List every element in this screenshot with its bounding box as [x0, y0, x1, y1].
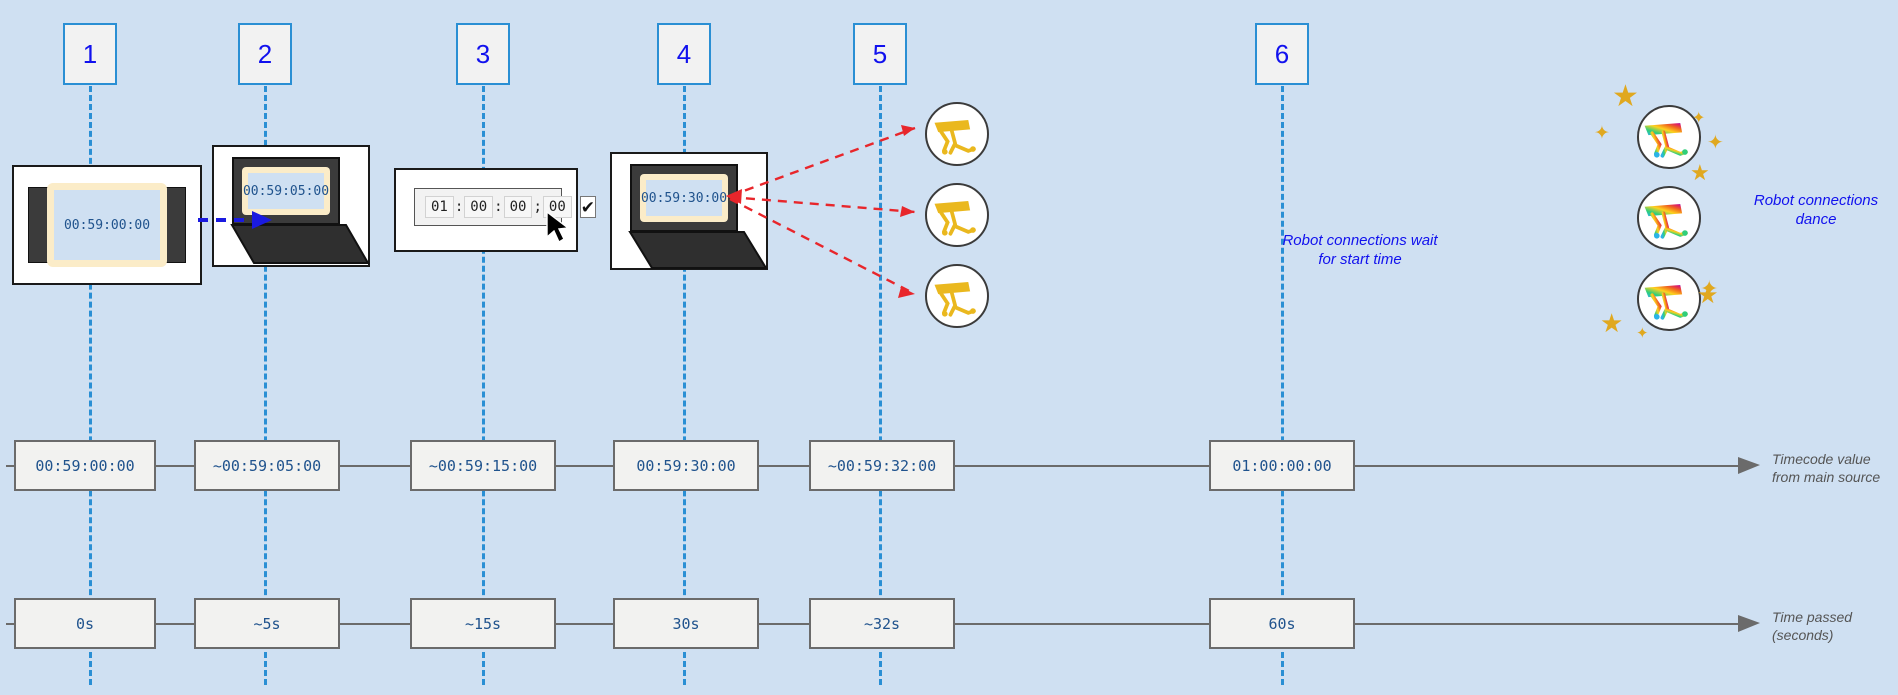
seconds-box-value: 60s — [1268, 615, 1295, 633]
diagram-canvas: 1 2 3 4 5 6 00:59:00:00 00: — [0, 0, 1898, 695]
star-icon: ★ — [1697, 284, 1719, 308]
robot-idle-1 — [925, 102, 989, 166]
note-dancing-line-2: dance — [1738, 211, 1894, 230]
seconds-box-1: 0s — [14, 598, 156, 649]
laptop-step4-lid: 00:59:30:00 — [630, 164, 738, 232]
step-number-label: 4 — [677, 39, 691, 70]
timecode-box-4: 00:59:30:00 — [613, 440, 759, 491]
seconds-box-6: 60s — [1209, 598, 1355, 649]
sparkle-icon: ✦ — [1594, 124, 1610, 143]
laptop-step4-timecode-value: 00:59:30:00 — [641, 191, 727, 206]
laptop-step2-timecode-value: 00:59:05:00 — [243, 184, 329, 199]
monitor-bezel: 00:59:00:00 — [47, 183, 167, 267]
laptop-step2-base — [226, 223, 370, 267]
timecode-axis-label: Timecode value from main source — [1772, 450, 1892, 486]
note-dancing-line-1: Robot connections — [1738, 192, 1894, 211]
robot-dancing-2 — [1637, 186, 1701, 250]
robot-dog-dancing-icon — [1639, 188, 1699, 248]
monitor-timecode-value: 00:59:00:00 — [64, 218, 150, 233]
timecode-hours-field[interactable]: 01 — [425, 196, 454, 218]
seconds-box-5: ~32s — [809, 598, 955, 649]
timecode-separator-1: : — [454, 199, 464, 215]
note-robots-waiting: Robot connections wait for start time — [1235, 232, 1485, 270]
timecode-box-5: ~00:59:32:00 — [809, 440, 955, 491]
checkmark-icon[interactable]: ✔ — [580, 196, 596, 218]
step-tag-3[interactable]: 3 — [456, 23, 510, 85]
seconds-axis-arrowhead — [1738, 613, 1764, 635]
lifeline-6 — [1281, 86, 1284, 685]
robot-dog-icon — [927, 185, 987, 245]
robot-dog-icon — [927, 104, 987, 164]
timecode-box-value: ~00:59:32:00 — [828, 457, 936, 475]
step-tag-1[interactable]: 1 — [63, 23, 117, 85]
sparkle-icon: ✦ — [1636, 326, 1649, 341]
timecode-axis-label-line-2: from main source — [1772, 468, 1892, 486]
seconds-box-2: ~5s — [194, 598, 340, 649]
timecode-box-value: 00:59:00:00 — [35, 457, 134, 475]
note-robots-dancing: Robot connections dance — [1738, 192, 1894, 230]
timecode-axis-arrowhead — [1738, 455, 1764, 477]
laptop-step4-base — [624, 230, 768, 272]
monitor-panel[interactable]: 00:59:00:00 — [12, 165, 202, 285]
robot-idle-3 — [925, 264, 989, 328]
timecode-box-value: ~00:59:15:00 — [429, 457, 537, 475]
step-tag-4[interactable]: 4 — [657, 23, 711, 85]
laptop-step2-screen: 00:59:05:00 — [248, 173, 324, 209]
timecode-separator-2: : — [493, 199, 503, 215]
laptop-step2-panel[interactable]: 00:59:05:00 — [212, 145, 370, 267]
seconds-box-4: 30s — [613, 598, 759, 649]
timecode-box-value: 00:59:30:00 — [636, 457, 735, 475]
seconds-box-value: ~5s — [253, 615, 280, 633]
timecode-seconds-field[interactable]: 00 — [504, 196, 533, 218]
robot-dog-dancing-icon — [1639, 107, 1699, 167]
timecode-box-3: ~00:59:15:00 — [410, 440, 556, 491]
robot-dog-icon — [927, 266, 987, 326]
note-waiting-line-1: Robot connections wait — [1235, 232, 1485, 251]
seconds-box-value: 0s — [76, 615, 94, 633]
timecode-box-6: 01:00:00:00 — [1209, 440, 1355, 491]
robot-dog-dancing-icon — [1639, 269, 1699, 329]
step-tag-2[interactable]: 2 — [238, 23, 292, 85]
laptop-step4-panel[interactable]: 00:59:30:00 — [610, 152, 768, 270]
laptop-step2-lid: 00:59:05:00 — [232, 157, 340, 225]
robot-idle-2 — [925, 183, 989, 247]
step-number-label: 3 — [476, 39, 490, 70]
step-number-label: 1 — [83, 39, 97, 70]
step-number-label: 6 — [1275, 39, 1289, 70]
laptop-step4-bezel: 00:59:30:00 — [640, 174, 728, 222]
step-number-label: 2 — [258, 39, 272, 70]
timecode-entry-widget[interactable]: 01 : 00 : 00 ; 00 ✔ — [414, 188, 562, 226]
timecode-box-1: 00:59:00:00 — [14, 440, 156, 491]
seconds-box-3: ~15s — [410, 598, 556, 649]
step-tag-5[interactable]: 5 — [853, 23, 907, 85]
timecode-box-2: ~00:59:05:00 — [194, 440, 340, 491]
seconds-box-value: ~32s — [864, 615, 900, 633]
timecode-separator-3: ; — [532, 199, 542, 215]
step-tag-6[interactable]: 6 — [1255, 23, 1309, 85]
seconds-axis-label-line-1: Time passed — [1772, 608, 1892, 626]
timecode-minutes-field[interactable]: 00 — [464, 196, 493, 218]
seconds-axis-label-line-2: (seconds) — [1772, 626, 1892, 644]
sparkle-icon: ✦ — [1692, 111, 1705, 127]
laptop-step4-screen: 00:59:30:00 — [646, 180, 722, 216]
monitor-body: 00:59:00:00 — [28, 187, 186, 263]
timecode-box-value: ~00:59:05:00 — [213, 457, 321, 475]
note-waiting-line-2: for start time — [1235, 251, 1485, 270]
star-icon: ★ — [1600, 310, 1623, 336]
monitor-screen: 00:59:00:00 — [54, 190, 160, 260]
sparkle-icon: ✦ — [1707, 133, 1724, 153]
seconds-box-value: 30s — [672, 615, 699, 633]
star-icon: ★ — [1690, 162, 1710, 184]
timecode-axis-label-line-1: Timecode value — [1772, 450, 1892, 468]
lifeline-5 — [879, 86, 882, 685]
timecode-box-value: 01:00:00:00 — [1232, 457, 1331, 475]
step-number-label: 5 — [873, 39, 887, 70]
seconds-box-value: ~15s — [465, 615, 501, 633]
robot-dancing-3 — [1637, 267, 1701, 331]
laptop-step2-bezel: 00:59:05:00 — [242, 167, 330, 215]
star-icon: ★ — [1612, 82, 1639, 112]
seconds-axis-label: Time passed (seconds) — [1772, 608, 1892, 644]
mouse-cursor-icon — [545, 210, 571, 244]
